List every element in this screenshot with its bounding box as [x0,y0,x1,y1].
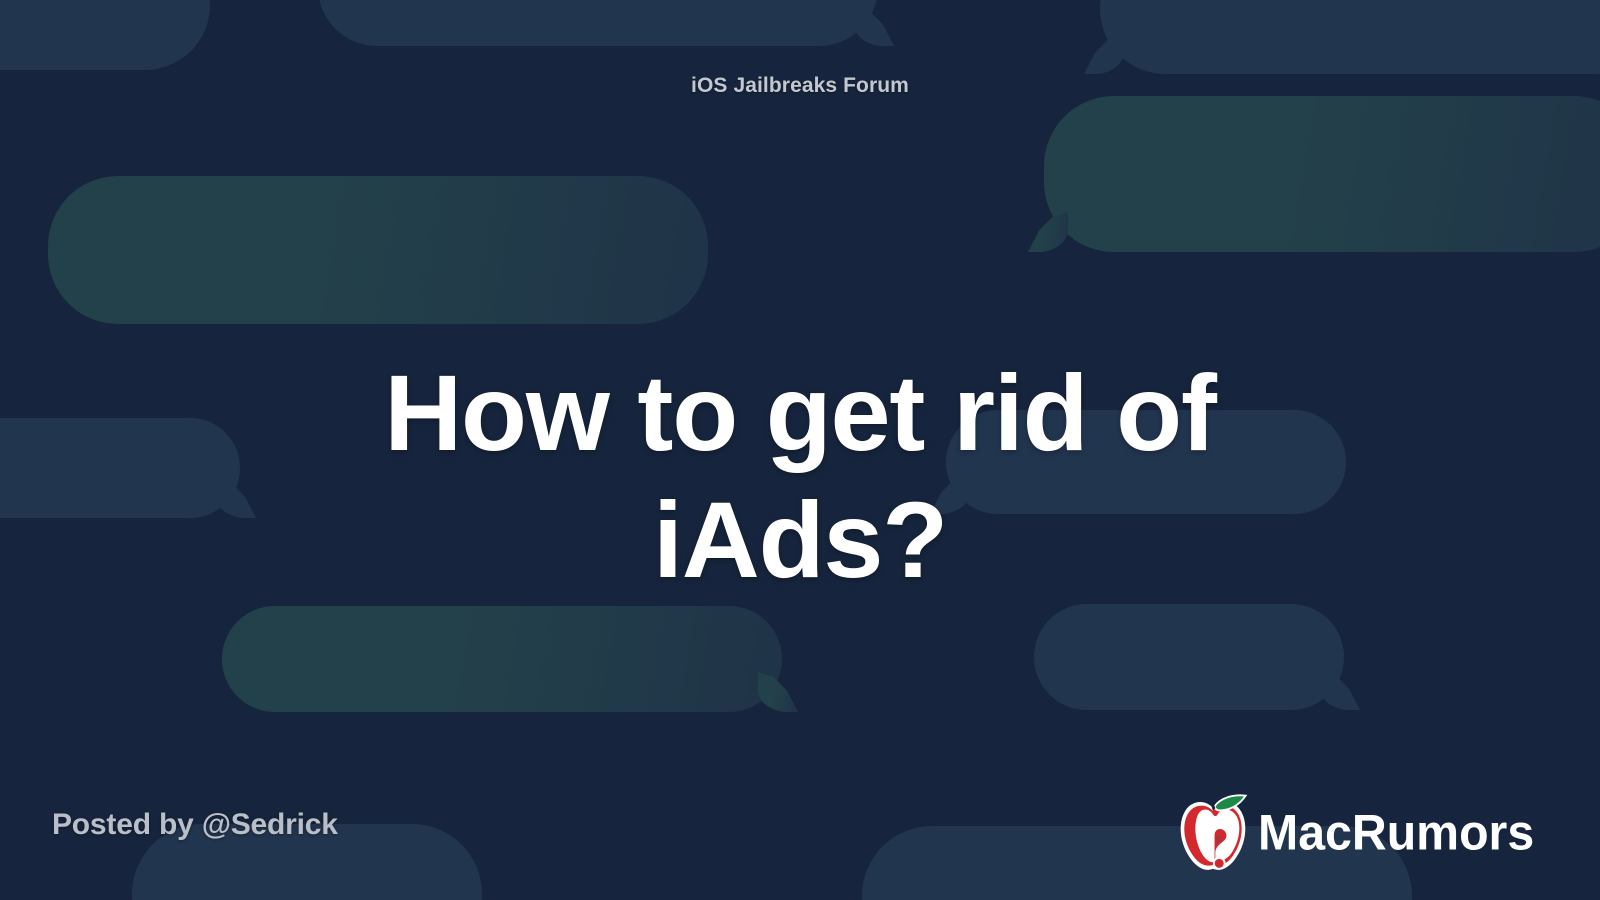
macrumors-wordmark-text: MacRumors [1258,805,1534,861]
card-footer: Posted by @Sedrick [0,750,1600,900]
macrumors-logo: MacRumors [1174,791,1548,875]
card-content: iOS Jailbreaks Forum How to get rid of i… [0,0,1600,900]
macrumors-apple-icon [1174,791,1252,875]
post-title: How to get rid of iAds? [350,349,1250,604]
macrumors-wordmark: MacRumors [1258,804,1548,862]
social-share-card: iOS Jailbreaks Forum How to get rid of i… [0,0,1600,900]
posted-by-label: Posted by @Sedrick [52,808,338,842]
